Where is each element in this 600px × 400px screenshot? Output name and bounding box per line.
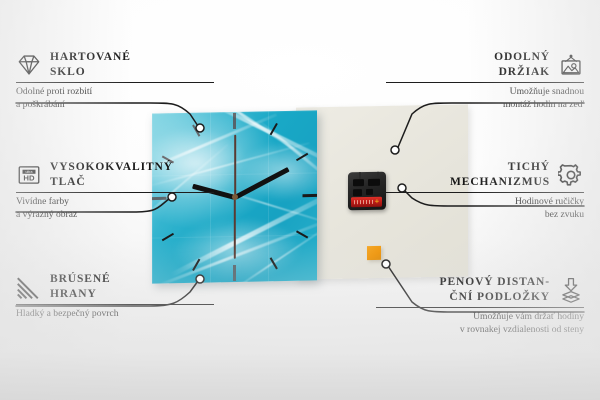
feature-head: ultra HD VYSOKOKVALITNÝ TLAČ [16,160,214,189]
feature-sub-line1: Vivídne farby [16,196,69,207]
feature-sub-line2: montáž hodin na zeď [503,99,584,110]
feature-title-line2: MECHANIZMUS [450,175,550,190]
feature-sub-line1: Hodinové ručičky [515,196,584,207]
feature-title-line2: TLAČ [50,175,173,190]
feature-title-line2: SKLO [50,65,131,80]
svg-text:HD: HD [23,173,35,182]
gear-icon [558,162,584,188]
feature-sub-line2: v rovnakej vzdialenosti od steny [460,324,584,335]
feature-divider [16,192,214,193]
feature-foam-spacers: PENOVÝ DISTAN- ČNÍ PODLOŽKY Umožňuje vám… [376,275,584,336]
feature-sub-line1: Hladký a bezpečný povrch [16,308,119,319]
feature-divider [16,304,214,305]
feature-sub-line2: a poškrábání [16,99,65,110]
feature-divider [386,82,584,83]
ultra-hd-icon: ultra HD [16,162,42,188]
feature-title-line1: HARTOVANÉ [50,50,131,65]
feature-subtitle: Umožňuje vám držať hodiny v rovnakej vzd… [376,311,584,336]
connector-dot [196,124,204,132]
feature-subtitle: Umožňuje snadnou montáž hodin na zeď [386,86,584,111]
foam-pad-icon [558,277,584,303]
diamond-icon [16,52,42,78]
feature-brushed-edges: BRÚSENÉ HRANY Hladký a bezpečný povrch [16,272,214,321]
feature-sub-line1: Odolné proti rozbití [16,86,92,97]
feature-subtitle: Vivídne farby a výrazný obraz [16,196,214,221]
feature-head: HARTOVANÉ SKLO [16,50,214,79]
feature-head: BRÚSENÉ HRANY [16,272,214,301]
feature-title-line1: BRÚSENÉ [50,272,111,287]
feature-divider [376,307,584,308]
feature-subtitle: Hladký a bezpečný povrch [16,308,214,321]
feature-sub-line2: a výrazný obraz [16,209,77,220]
feature-tempered-glass: HARTOVANÉ SKLO Odolné proti rozbití a po… [16,50,214,111]
feature-divider [16,82,214,83]
connector-dot [382,260,390,268]
connector-dot [391,146,399,154]
feature-title-line2: HRANY [50,287,111,302]
feature-sub-line2: bez zvuku [545,209,584,220]
feature-head: ODOLNÝ DRŽIAK [386,50,584,79]
feature-subtitle: Hodinové ručičky bez zvuku [386,196,584,221]
feature-head: TICHÝ MECHANIZMUS [386,160,584,189]
wall-hanger-icon [558,52,584,78]
product-infographic: + [0,0,600,400]
feature-head: PENOVÝ DISTAN- ČNÍ PODLOŽKY [376,275,584,304]
feature-sub-line1: Umožňuje vám držať hodiny [473,311,584,322]
feature-title-line2: ČNÍ PODLOŽKY [449,290,550,305]
feature-sub-line1: Umožňuje snadnou [510,86,584,97]
feature-title-line1: ODOLNÝ [494,50,550,65]
feature-title-line2: DRŽIAK [499,65,550,80]
feature-title-line1: VYSOKOKVALITNÝ [50,160,173,175]
feature-subtitle: Odolné proti rozbití a poškrábání [16,86,214,111]
feature-title-line1: PENOVÝ DISTAN- [440,275,550,290]
feature-title-line1: TICHÝ [508,160,550,175]
feature-silent-mechanism: TICHÝ MECHANIZMUS Hodinové ručičky bez z… [386,160,584,221]
brushed-edges-icon [16,274,42,300]
feature-high-quality-print: ultra HD VYSOKOKVALITNÝ TLAČ Vivídne far… [16,160,214,221]
feature-divider [386,192,584,193]
feature-durable-hanger: ODOLNÝ DRŽIAK Umožňuje snadnou montáž ho… [386,50,584,111]
